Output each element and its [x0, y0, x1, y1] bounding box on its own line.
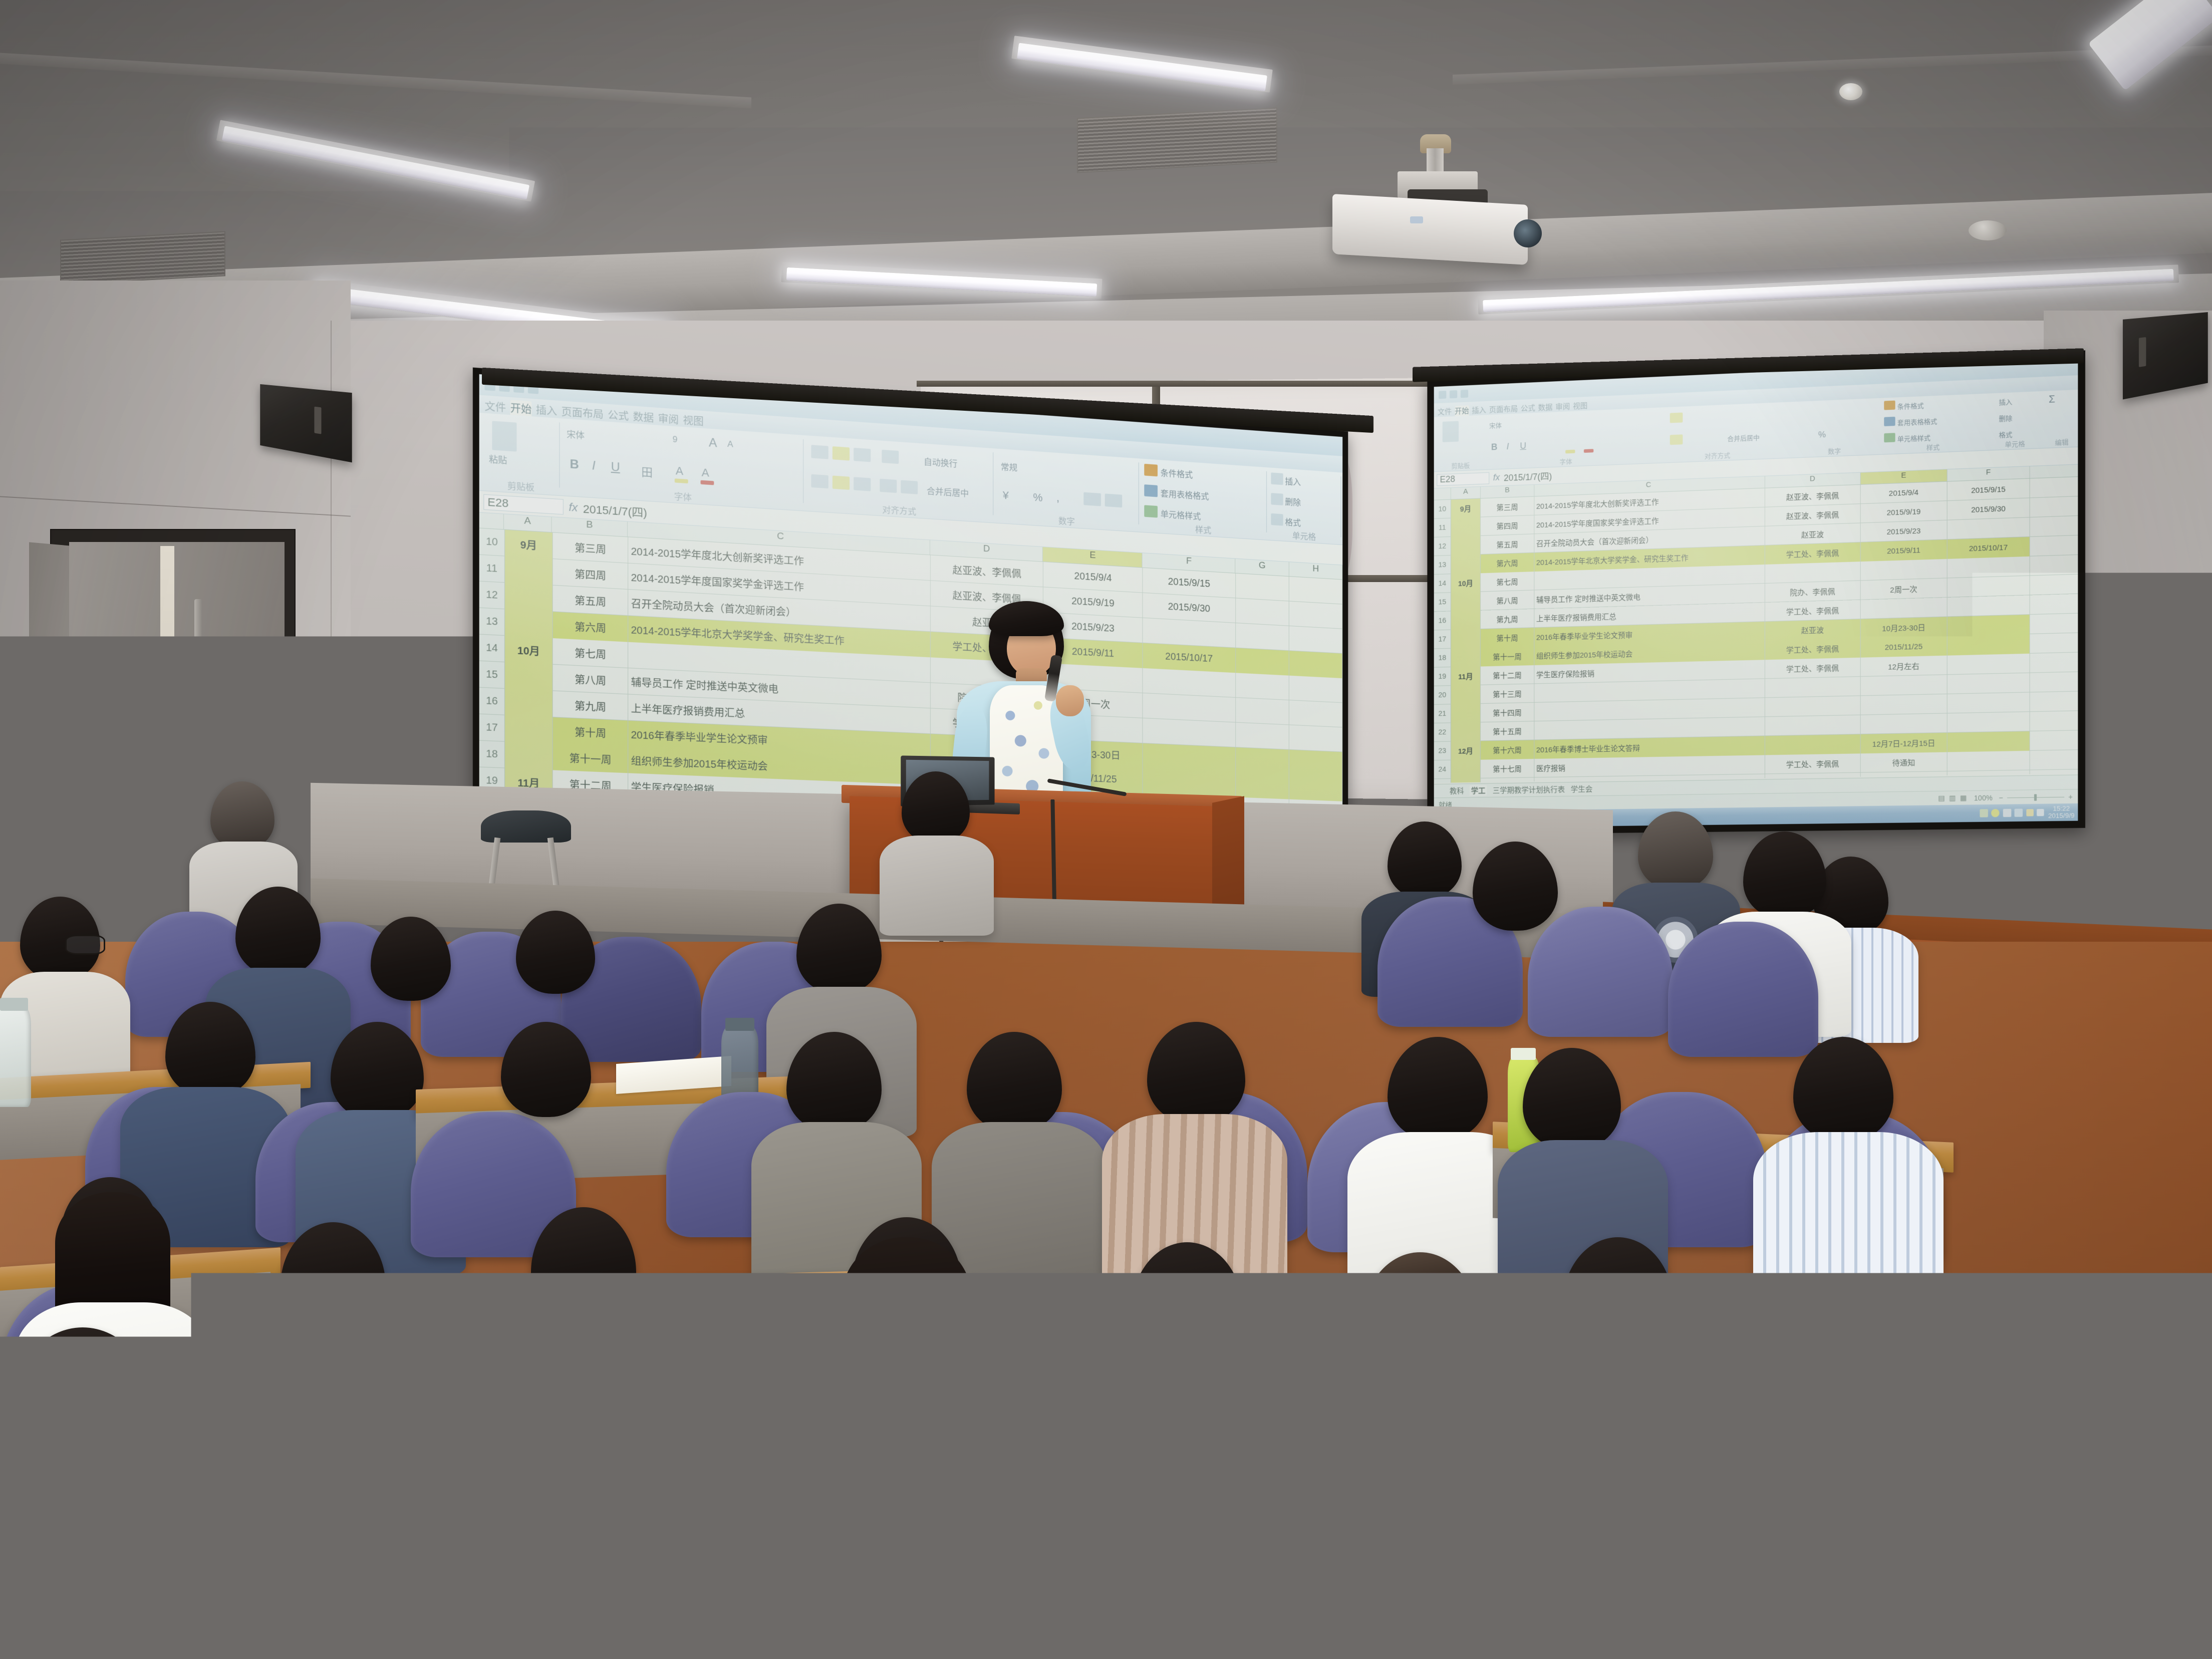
cell-week[interactable]: 第九周: [1481, 609, 1534, 629]
cell-start-date[interactable]: [1861, 675, 1948, 696]
attendee-head: [165, 1002, 255, 1097]
cell-week[interactable]: 第三周: [553, 532, 629, 563]
cell-owner[interactable]: 赵亚波、李佩佩: [1765, 504, 1861, 526]
wrap-text-button[interactable]: 自动换行: [924, 455, 957, 470]
cell-owner[interactable]: [1765, 715, 1861, 736]
cell-month[interactable]: [1451, 555, 1481, 574]
cell-h[interactable]: [1289, 577, 1342, 604]
tab-view[interactable]: 视图: [683, 412, 703, 428]
cell-end-date[interactable]: [1948, 654, 2030, 675]
insert-cells-icon[interactable]: [1271, 472, 1283, 485]
tab-file[interactable]: 文件: [484, 398, 506, 415]
cell-week[interactable]: 第十周: [553, 717, 629, 747]
row-number[interactable]: 17: [1434, 630, 1451, 649]
tab-insert-right[interactable]: 插入: [1472, 405, 1486, 416]
align-top-button[interactable]: [811, 445, 828, 459]
underline-button[interactable]: U: [611, 460, 620, 475]
grow-font-icon[interactable]: A: [709, 436, 717, 451]
cell-start-date[interactable]: 10月23-30日: [1861, 617, 1948, 639]
align-middle-button-right[interactable]: [1670, 413, 1683, 423]
cell-week[interactable]: 第四周: [1481, 515, 1534, 536]
increase-indent-button[interactable]: [901, 480, 918, 494]
tab-page-layout-right[interactable]: 页面布局: [1489, 403, 1518, 415]
ribbon-group-font: 宋体 9 A A B I U 田 A A 字体: [563, 418, 801, 510]
shrink-font-icon[interactable]: A: [727, 439, 733, 450]
tab-home[interactable]: 开始: [510, 400, 532, 416]
row-number[interactable]: 13: [479, 608, 505, 636]
format-as-table-button[interactable]: 套用表格格式: [1161, 486, 1209, 502]
door-kick-plate: [174, 741, 281, 767]
cell-g[interactable]: [1236, 747, 1289, 774]
underline-button-right[interactable]: U: [1520, 441, 1526, 451]
row-number[interactable]: 11: [1434, 518, 1451, 537]
cell-month[interactable]: 11月: [1451, 667, 1481, 686]
row-number[interactable]: 12: [1434, 537, 1451, 556]
cell-month[interactable]: 9月: [505, 530, 553, 559]
air-vent-center: [1077, 108, 1277, 173]
row-number[interactable]: 15: [479, 661, 505, 688]
row-number[interactable]: 20: [1434, 686, 1451, 704]
projector: [1332, 194, 1528, 265]
cell-end-date[interactable]: [1143, 668, 1236, 698]
group-label-cells-right: 单元格: [1987, 438, 2044, 450]
decrease-indent-button[interactable]: [880, 479, 897, 493]
number-format-box[interactable]: 常规: [1001, 460, 1017, 473]
tab-review-right[interactable]: 审阅: [1555, 401, 1570, 412]
cell-h[interactable]: [1289, 725, 1342, 752]
cell-week[interactable]: 第十五周: [1481, 721, 1534, 741]
col-header-A[interactable]: A: [504, 514, 552, 532]
ceiling-spotlight: [1839, 83, 1862, 100]
row-number[interactable]: 13: [1434, 556, 1451, 574]
comma-style-button[interactable]: ,: [1056, 491, 1059, 504]
delete-cells-button-right[interactable]: 删除: [1999, 413, 2013, 423]
cell-week[interactable]: 第七周: [1481, 572, 1534, 592]
bottle-cap: [0, 998, 28, 1011]
ribbon-group-cells-right: 插入 删除 格式 单元格: [1987, 391, 2044, 450]
cell-month[interactable]: [1451, 611, 1481, 630]
row-number[interactable]: 17: [479, 714, 505, 741]
delete-cells-button[interactable]: 删除: [1285, 495, 1301, 508]
paste-button[interactable]: [492, 421, 516, 451]
cell-g[interactable]: [1236, 722, 1289, 749]
align-center-button-right[interactable]: [1670, 434, 1683, 445]
cell-start-date[interactable]: [1861, 713, 1948, 734]
cell-owner[interactable]: 赵亚波: [1765, 523, 1861, 545]
cell-end-date[interactable]: [1143, 743, 1236, 772]
cell-styles-icon[interactable]: [1144, 505, 1158, 517]
tab-insert[interactable]: 插入: [536, 402, 557, 418]
row-number[interactable]: 18: [1434, 649, 1451, 667]
cell-styles-icon-right[interactable]: [1884, 433, 1895, 442]
cell-week[interactable]: 第六周: [553, 612, 629, 642]
autosum-button-right[interactable]: Σ: [2049, 394, 2055, 406]
font-size-box[interactable]: 9: [673, 434, 678, 445]
tab-data-right[interactable]: 数据: [1538, 402, 1553, 413]
ribbon-group-number: 常规 ¥ % , 数字: [996, 449, 1137, 532]
corner-cell-right[interactable]: [1434, 488, 1451, 500]
cell-month[interactable]: [505, 609, 553, 638]
cell-month[interactable]: [1451, 629, 1481, 649]
cell-month[interactable]: [1451, 517, 1481, 537]
cell-start-date[interactable]: 12月左右: [1861, 656, 1948, 677]
tab-home-right[interactable]: 开始: [1455, 405, 1469, 416]
align-bottom-button[interactable]: [854, 448, 871, 462]
light-switch-plate[interactable]: [301, 661, 338, 682]
cell-h[interactable]: [1289, 602, 1342, 629]
italic-button-right[interactable]: I: [1507, 441, 1509, 452]
format-as-table-icon[interactable]: [1144, 484, 1158, 497]
projector-indicator-led: [1410, 216, 1423, 223]
smartphone[interactable]: [1477, 1428, 1553, 1508]
font-name-box-right[interactable]: 宋体: [1489, 420, 1502, 430]
italic-button[interactable]: I: [592, 459, 596, 473]
formula-bar-value[interactable]: 2015/1/7(四): [583, 499, 647, 520]
cell-end-date[interactable]: 2015/9/30: [1948, 498, 2030, 520]
cell-end-date[interactable]: [1948, 634, 2030, 656]
tab-file-right[interactable]: 文件: [1438, 406, 1452, 417]
formula-bar-value-right[interactable]: 2015/1/7(四): [1504, 469, 1552, 484]
cell-start-date[interactable]: 待通知: [1861, 752, 1948, 773]
cell-owner[interactable]: 赵亚波、李佩佩: [1765, 485, 1861, 507]
cell-end-date[interactable]: 2015/10/17: [1948, 537, 2030, 559]
cell-month[interactable]: [1451, 685, 1481, 704]
font-color-swatch-right[interactable]: [1584, 449, 1593, 453]
right-projection-screen-frame: 文件 开始 插入 页面布局 公式 数据 审阅 视图 剪贴板 宋体: [1427, 350, 2085, 835]
cell-end-date[interactable]: [1143, 718, 1236, 747]
presenter-hair-fringe: [989, 601, 1064, 636]
cell-owner[interactable]: 学工处、李佩佩: [1765, 600, 1861, 622]
row-number[interactable]: 11: [479, 555, 505, 583]
tab-formulas-right[interactable]: 公式: [1521, 402, 1535, 413]
excel-grid-right[interactable]: A B C D E F 109月第三周2014-2015学年度北大创新奖评选工作…: [1434, 465, 2078, 783]
cell-owner[interactable]: [1765, 677, 1861, 698]
ribbon-group-cells: 插入 删除 格式 单元格: [1269, 467, 1339, 544]
cell-week[interactable]: 第五周: [553, 586, 629, 616]
row-number[interactable]: 12: [479, 582, 505, 609]
cell-month[interactable]: [1451, 704, 1481, 723]
cell-start-date[interactable]: 2015/11/25: [1861, 636, 1948, 658]
conditional-format-button-right[interactable]: 条件格式: [1897, 400, 1924, 411]
attendee-body: [927, 1583, 1257, 1659]
paste-label: 粘贴: [489, 452, 507, 466]
group-label-editing-right: 编辑: [2046, 436, 2078, 447]
cell-owner[interactable]: 学工处、李佩佩: [1765, 658, 1861, 679]
delete-cells-icon[interactable]: [1271, 493, 1283, 505]
cell-month[interactable]: [505, 583, 553, 612]
ribbon-group-number-right: % 数字: [1789, 398, 1880, 458]
borders-button[interactable]: 田: [641, 463, 653, 480]
cell-end-date[interactable]: [1948, 692, 2030, 713]
name-box[interactable]: E28: [483, 494, 564, 514]
row-number[interactable]: 19: [1434, 667, 1451, 686]
format-cells-icon[interactable]: [1271, 513, 1283, 526]
insert-cells-button-right[interactable]: 插入: [1999, 397, 2013, 407]
font-name-box[interactable]: 宋体: [567, 427, 585, 441]
percent-button[interactable]: %: [1033, 491, 1042, 504]
cell-week[interactable]: 第十六周: [1481, 740, 1534, 760]
cell-start-date[interactable]: 2015/9/19: [1861, 501, 1948, 523]
cell-owner[interactable]: [1765, 734, 1861, 755]
right-projection-screen: 文件 开始 插入 页面布局 公式 数据 审阅 视图 剪贴板 宋体: [1434, 358, 2078, 828]
cell-g[interactable]: [1236, 598, 1289, 626]
cell-end-date[interactable]: [1948, 576, 2030, 598]
cell-start-date[interactable]: 2015/9/4: [1861, 482, 1948, 504]
orientation-button[interactable]: [882, 450, 899, 464]
ribbon-group-editing-right: Σ 编辑: [2046, 390, 2078, 448]
conditional-format-icon-right[interactable]: [1884, 401, 1895, 410]
insert-cells-button[interactable]: 插入: [1285, 474, 1301, 487]
cell-month[interactable]: [505, 742, 553, 770]
name-box-right[interactable]: E28: [1437, 472, 1489, 485]
quick-access-toolbar-right[interactable]: [1434, 390, 1468, 399]
merge-center-button[interactable]: 合并后居中: [927, 484, 969, 499]
conditional-format-button[interactable]: 条件格式: [1161, 466, 1193, 480]
cell-end-date[interactable]: [1948, 712, 2030, 733]
cell-month[interactable]: [1451, 648, 1481, 667]
bottle-cap: [725, 1018, 754, 1031]
cell-week[interactable]: 第三周: [1481, 496, 1534, 517]
ribbon-group-clipboard-right: 剪贴板: [1437, 415, 1484, 471]
door-handle[interactable]: [194, 599, 202, 734]
tab-data[interactable]: 数据: [633, 408, 654, 425]
row-number[interactable]: 10: [479, 528, 505, 556]
cell-month[interactable]: [505, 715, 553, 744]
row-number[interactable]: 22: [1434, 723, 1451, 741]
font-color-swatch[interactable]: [701, 480, 714, 485]
cell-end-date[interactable]: [1948, 557, 2030, 579]
lecture-hall-photo: 文件 开始 插入 页面布局 公式 数据 审阅 视图 粘贴 剪贴板: [0, 0, 2212, 1659]
format-as-table-button-right[interactable]: 套用表格格式: [1897, 416, 1938, 427]
row-number[interactable]: 16: [1434, 611, 1451, 630]
cell-week[interactable]: 第十三周: [1481, 684, 1534, 704]
cell-start-date[interactable]: [1861, 694, 1948, 715]
cell-owner[interactable]: [1765, 696, 1861, 717]
bold-button-right[interactable]: B: [1491, 442, 1497, 452]
cell-g[interactable]: [1236, 623, 1289, 651]
corner-cell[interactable]: [479, 512, 504, 529]
cell-week[interactable]: 第十一周: [553, 744, 629, 773]
row-number[interactable]: 15: [1434, 593, 1451, 611]
cell-h[interactable]: [1289, 700, 1342, 727]
row-number[interactable]: 16: [479, 688, 505, 715]
papers: [1593, 1595, 1703, 1646]
bottle-cap: [1511, 1048, 1536, 1060]
ribbon-group-alignment: 自动换行 合并后居中 对齐方式: [806, 435, 991, 522]
cell-g[interactable]: [1236, 698, 1289, 725]
cell-month[interactable]: [505, 662, 553, 691]
cell-month[interactable]: [1451, 536, 1481, 556]
align-left-button[interactable]: [811, 474, 828, 488]
cell-month[interactable]: 12月: [1451, 741, 1481, 760]
row-number[interactable]: 14: [479, 635, 505, 662]
cell-end-date[interactable]: [1143, 693, 1236, 723]
row-number[interactable]: 23: [1434, 742, 1451, 760]
cell-owner[interactable]: 赵亚波: [1765, 619, 1861, 641]
row-number[interactable]: 18: [479, 741, 505, 768]
cell-week[interactable]: 第八周: [553, 665, 629, 695]
fx-icon[interactable]: fx: [564, 500, 583, 514]
cell-week[interactable]: 第十一周: [1481, 647, 1534, 667]
cell-end-date[interactable]: 2015/9/15: [1948, 479, 2030, 501]
cell-week[interactable]: 第九周: [553, 691, 629, 720]
ribbon-group-alignment-right: 合并后居中 对齐方式: [1648, 402, 1787, 463]
cell-month[interactable]: [1451, 722, 1481, 741]
cell-week[interactable]: 第七周: [553, 638, 629, 668]
format-as-table-icon-right[interactable]: [1884, 417, 1895, 426]
attendee-head: [1743, 832, 1826, 919]
fill-color-button[interactable]: A: [676, 464, 683, 478]
cell-end-date[interactable]: [1948, 673, 2030, 694]
percent-button-right[interactable]: %: [1818, 430, 1826, 440]
attendee-head: [1322, 1418, 1483, 1573]
ribbon-group-styles-right: 条件格式 套用表格格式 单元格样式 样式: [1882, 394, 1984, 454]
col-header-B-right[interactable]: B: [1481, 485, 1534, 498]
cell-g[interactable]: [1236, 673, 1289, 700]
cell-month[interactable]: 10月: [505, 636, 553, 665]
cell-end-date[interactable]: [1948, 751, 2030, 771]
cell-h[interactable]: [1289, 676, 1342, 703]
air-vent: [60, 231, 225, 285]
cell-month[interactable]: [505, 557, 553, 586]
smoke-detector: [1969, 220, 2007, 240]
presenter-hand: [1056, 685, 1084, 716]
cell-g[interactable]: [1236, 648, 1289, 676]
attendee-body: [1262, 1563, 1563, 1659]
cell-end-date[interactable]: [1948, 517, 2030, 539]
cell-month[interactable]: 10月: [1451, 573, 1481, 593]
col-header-A-right[interactable]: A: [1451, 487, 1481, 499]
cell-week[interactable]: 第五周: [1481, 534, 1534, 555]
align-right-button[interactable]: [854, 477, 871, 491]
audience-row-foreground: [0, 1252, 2212, 1659]
tab-formulas[interactable]: 公式: [608, 407, 629, 423]
align-center-button[interactable]: [833, 475, 850, 489]
merge-center-button-right[interactable]: 合并后居中: [1727, 432, 1760, 443]
excel-rows-right: 109月第三周2014-2015学年度北大创新奖评选工作赵亚波、李佩佩2015/…: [1434, 477, 2078, 783]
cell-start-date[interactable]: 2周一次: [1861, 578, 1948, 600]
cell-owner[interactable]: 院办、李佩佩: [1765, 581, 1861, 603]
row-number[interactable]: 10: [1434, 500, 1451, 518]
cell-week[interactable]: 第十四周: [1481, 703, 1534, 722]
cell-week[interactable]: 第十二周: [1481, 665, 1534, 685]
ribbon-group-styles: 条件格式 套用表格格式 单元格样式 样式: [1142, 459, 1265, 540]
cell-owner[interactable]: [1765, 562, 1861, 584]
cell-month[interactable]: [1451, 592, 1481, 612]
group-label-clipboard-right: 剪贴板: [1437, 460, 1484, 471]
cell-month[interactable]: [505, 689, 553, 717]
fill-color-swatch[interactable]: [675, 478, 688, 483]
conditional-format-icon[interactable]: [1144, 464, 1158, 476]
cell-g[interactable]: [1236, 574, 1289, 602]
cell-owner[interactable]: 学工处、李佩佩: [1765, 542, 1861, 565]
cell-week[interactable]: 第十周: [1481, 628, 1534, 648]
format-cells-button[interactable]: 格式: [1285, 515, 1301, 528]
align-middle-button[interactable]: [833, 446, 850, 461]
font-color-button[interactable]: A: [702, 466, 709, 479]
cell-start-date[interactable]: [1861, 598, 1948, 619]
cell-end-date[interactable]: [1948, 731, 2030, 752]
cell-end-date[interactable]: [1948, 615, 2030, 636]
row-number[interactable]: 14: [1434, 574, 1451, 593]
cell-h[interactable]: [1289, 651, 1342, 678]
cell-start-date[interactable]: 2015/9/23: [1861, 520, 1948, 542]
cell-start-date[interactable]: 12月7日-12月15日: [1861, 733, 1948, 753]
cell-start-date[interactable]: 2015/9/11: [1861, 539, 1948, 562]
currency-button[interactable]: ¥: [1003, 489, 1009, 502]
cell-styles-button[interactable]: 单元格样式: [1161, 507, 1201, 522]
fx-icon-right[interactable]: fx: [1489, 472, 1504, 483]
cell-styles-button-right[interactable]: 单元格样式: [1897, 432, 1930, 443]
paste-button-right[interactable]: [1443, 421, 1459, 442]
projector-lens: [1514, 219, 1542, 247]
cell-week[interactable]: 第八周: [1481, 590, 1534, 610]
cell-start-date[interactable]: [1861, 559, 1948, 581]
attendee-head: [1473, 842, 1558, 931]
cell-end-date[interactable]: [1948, 595, 2030, 617]
cell-h[interactable]: [1289, 626, 1342, 654]
ribbon-group-clipboard: 粘贴 剪贴板: [483, 413, 558, 495]
increase-decimal-button[interactable]: [1083, 492, 1101, 506]
row-number[interactable]: 21: [1434, 704, 1451, 723]
decrease-decimal-button[interactable]: [1105, 493, 1123, 507]
whiteboard-rail-top: [917, 381, 1428, 387]
tab-view-right[interactable]: 视图: [1573, 400, 1587, 411]
tab-review[interactable]: 审阅: [658, 410, 679, 427]
format-cells-button-right[interactable]: 格式: [1999, 429, 2013, 439]
bold-button[interactable]: B: [570, 457, 579, 472]
right-screen-excel-app: 文件 开始 插入 页面布局 公式 数据 审阅 视图 剪贴板 宋体: [1434, 358, 2078, 828]
cell-month[interactable]: 9月: [1451, 498, 1481, 518]
fill-color-swatch-right[interactable]: [1565, 450, 1575, 454]
cell-week[interactable]: 第六周: [1481, 553, 1534, 574]
ribbon-group-font-right: 宋体 B I U 字体: [1486, 408, 1646, 469]
cell-owner[interactable]: 学工处、李佩佩: [1765, 638, 1861, 660]
cell-week[interactable]: 第四周: [553, 559, 629, 590]
